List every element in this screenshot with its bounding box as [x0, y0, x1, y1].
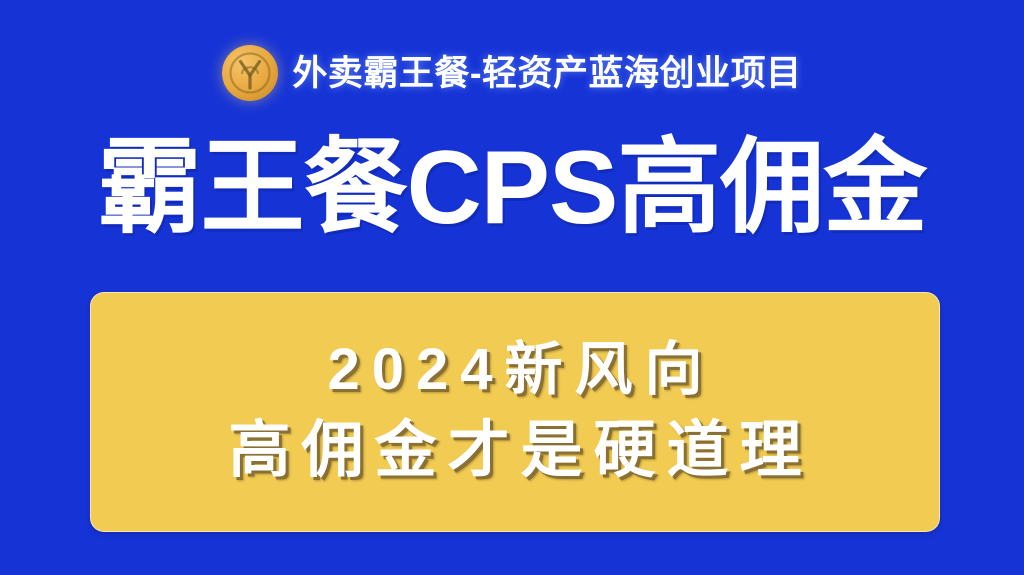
page-title: 霸王餐CPS高佣金 [0, 133, 1024, 243]
promo-line-primary: 2024新风向 [315, 339, 714, 402]
promo-line-secondary: 高佣金才是硬道理 [217, 418, 812, 485]
header-title: 外卖霸王餐-轻资产蓝海创业项目 [292, 56, 801, 91]
header-row: 外卖霸王餐-轻资产蓝海创业项目 [0, 40, 1024, 106]
promo-card: 2024新风向 高佣金才是硬道理 [90, 292, 940, 532]
brand-monogram-icon [222, 45, 278, 101]
poster-canvas: 外卖霸王餐-轻资产蓝海创业项目 霸王餐CPS高佣金 2024新风向 高佣金才是硬… [0, 0, 1024, 575]
